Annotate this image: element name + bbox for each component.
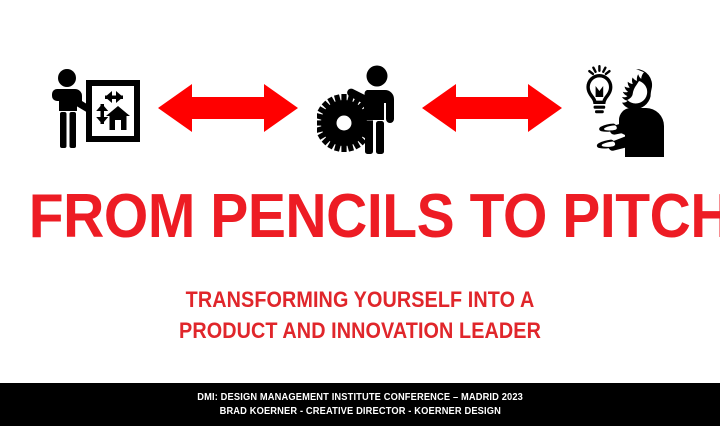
red-double-arrow-icon (416, 82, 568, 134)
architect-presenting-board-icon (40, 62, 152, 154)
presentation-slide: FROM PENCILS TO PITCHDECKS TRANSFORMING … (0, 0, 720, 426)
person-with-gear-icon (304, 60, 416, 156)
red-double-arrow-icon (152, 82, 304, 134)
footer-bar: DMI: DESIGN MANAGEMENT INSTITUTE CONFERE… (0, 383, 720, 426)
footer-presenter-line: BRAD KOERNER - CREATIVE DIRECTOR - KOERN… (219, 405, 500, 419)
person-presenting-lightbulb-icon (568, 59, 680, 157)
footer-conference-line: DMI: DESIGN MANAGEMENT INSTITUTE CONFERE… (197, 391, 523, 405)
slide-subtitle: TRANSFORMING YOURSELF INTO A PRODUCT AND… (0, 284, 720, 346)
subtitle-line-2: PRODUCT AND INNOVATION LEADER (36, 315, 684, 346)
slide-title: FROM PENCILS TO PITCHDECKS (29, 186, 691, 248)
subtitle-line-1: TRANSFORMING YOURSELF INTO A (36, 284, 684, 315)
icon-row (0, 52, 720, 164)
